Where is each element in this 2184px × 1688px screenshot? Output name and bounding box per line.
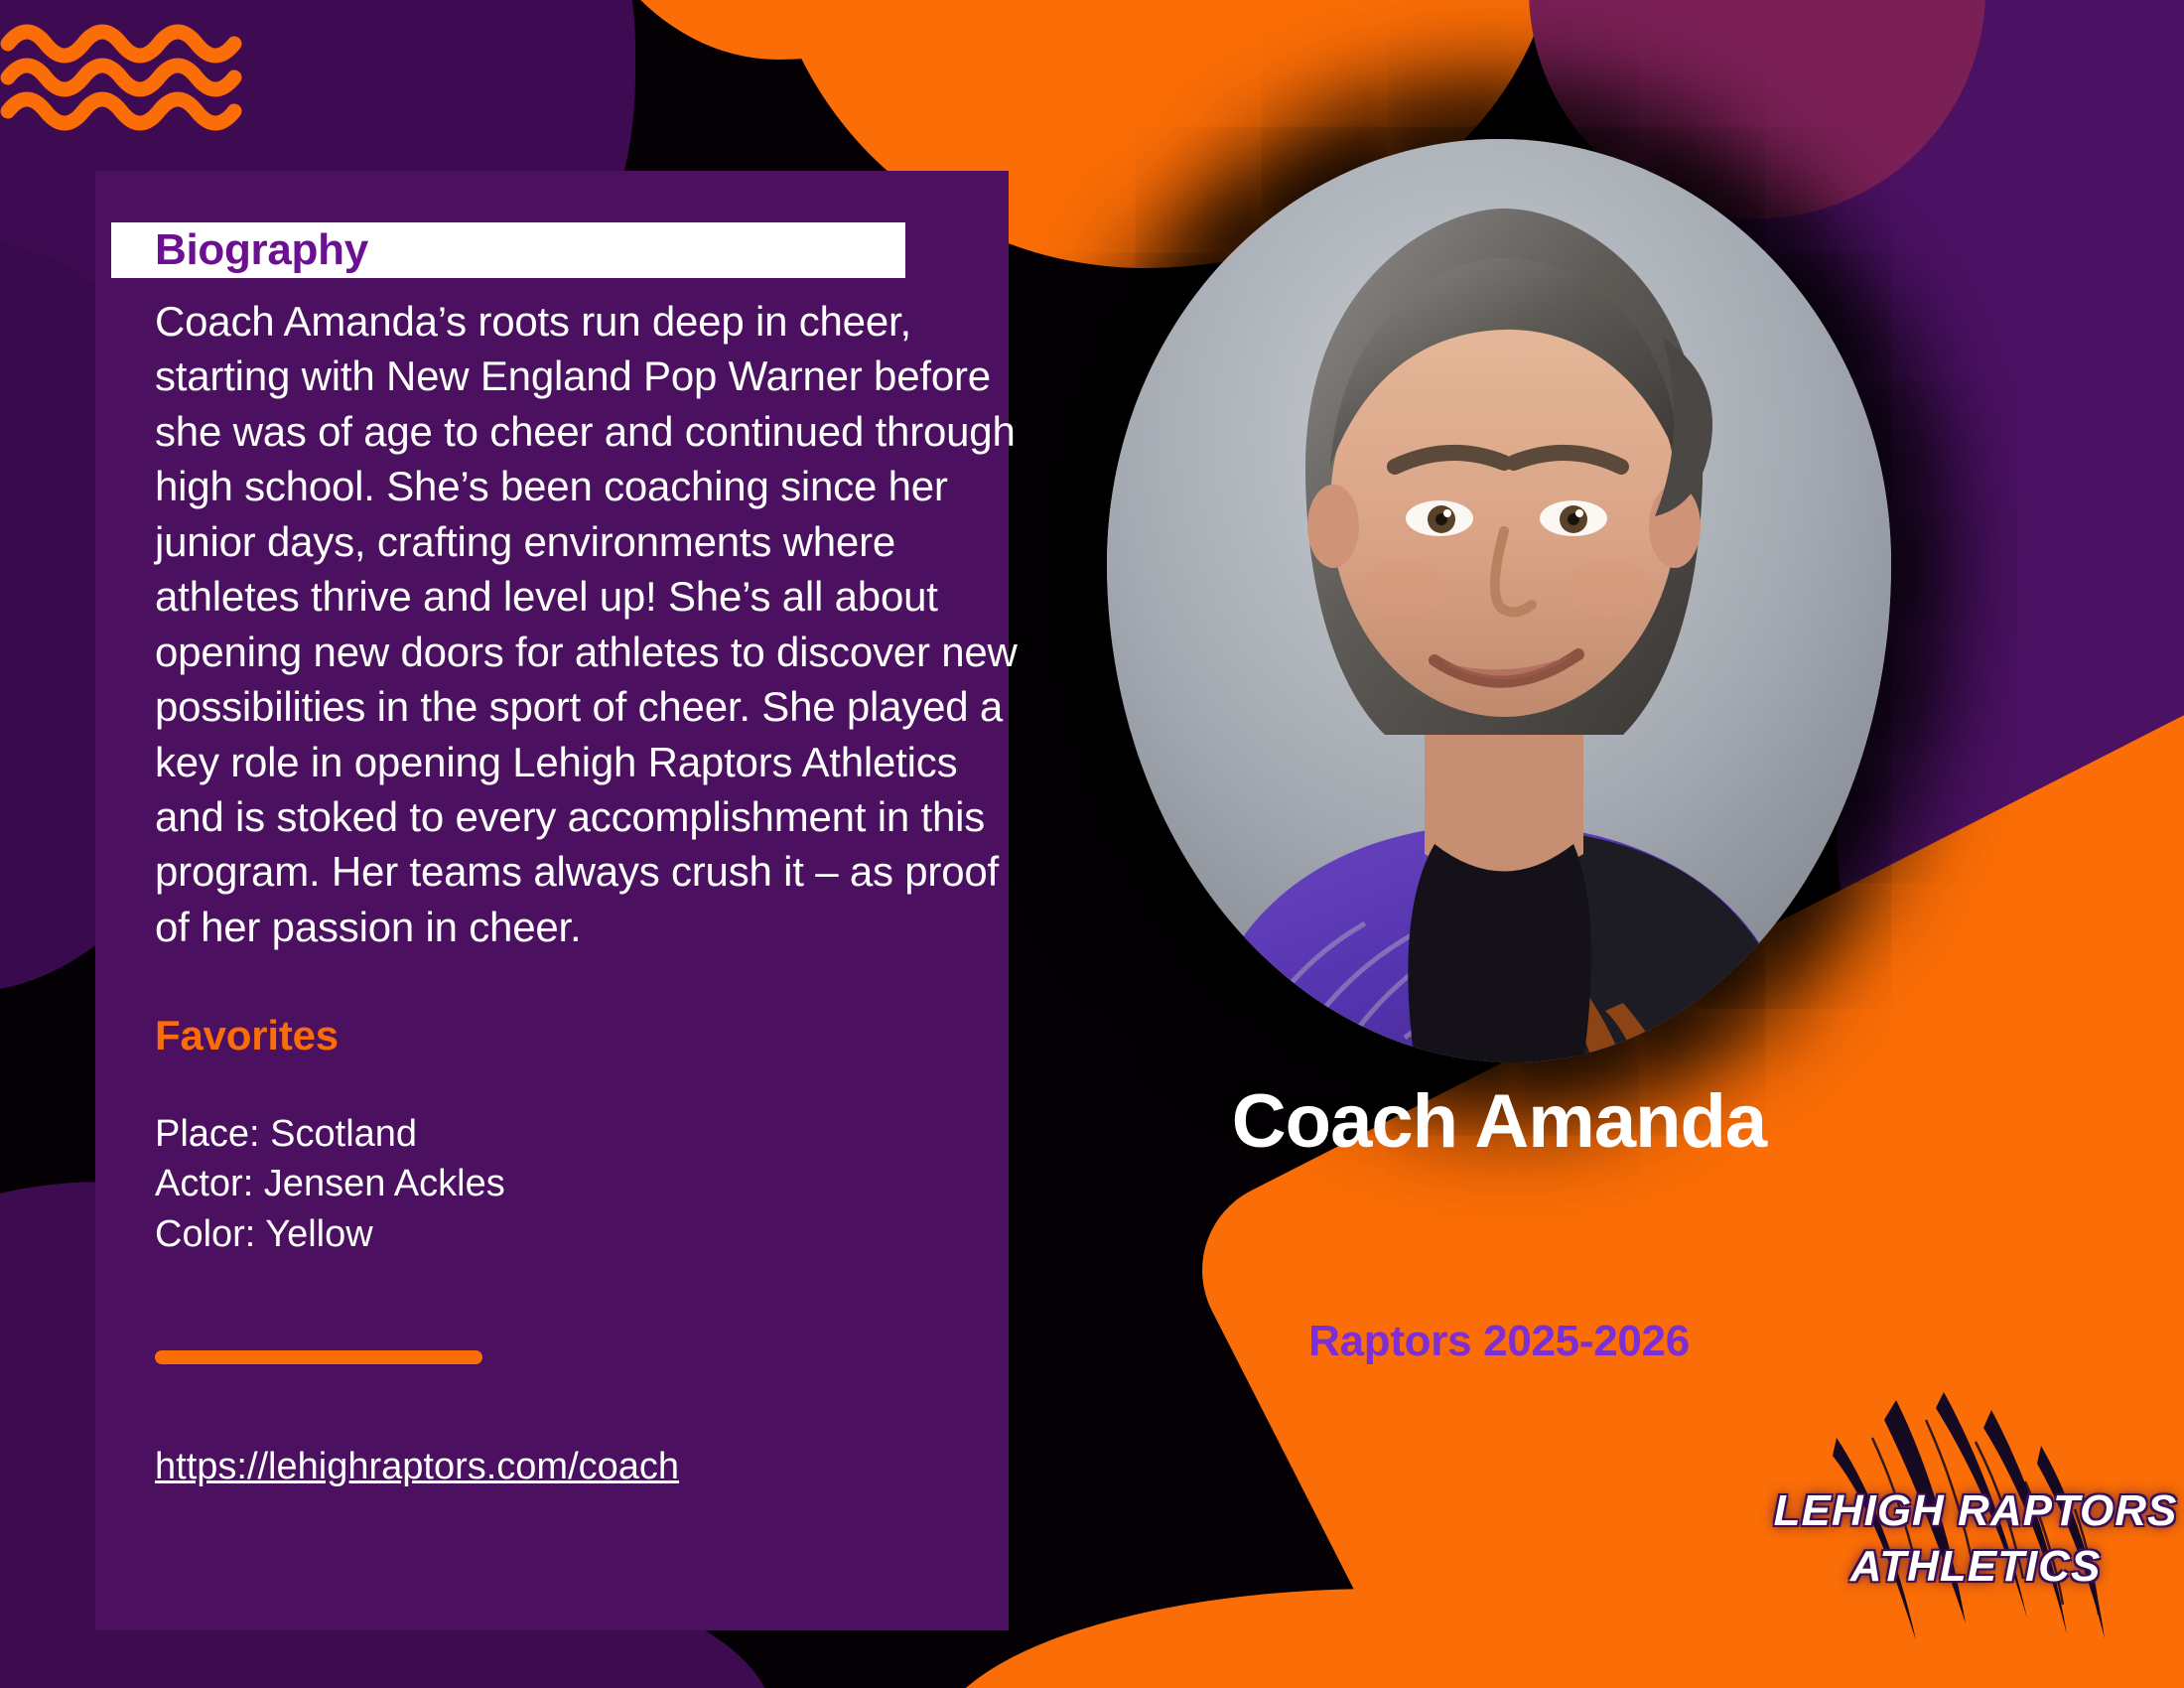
team-name: Alpha Team — [1092, 1205, 1906, 1263]
favorite-item-actor: Actor: Jensen Ackles — [155, 1159, 949, 1208]
favorites-heading: Favorites — [155, 1012, 949, 1059]
portrait-image — [1107, 139, 1891, 1062]
favorites-list: Place: Scotland Actor: Jensen Ackles Col… — [155, 1109, 949, 1258]
orange-divider-bar — [155, 1350, 482, 1364]
profile-name-block: Coach Amanda Alpha Team Raptors 2025-202… — [1092, 1082, 1906, 1366]
portrait-oval-frame — [1107, 139, 1891, 1062]
favorite-item-color: Color: Yellow — [155, 1209, 949, 1259]
season-label: Raptors 2025-2026 — [1092, 1317, 1906, 1366]
coach-portrait — [1107, 139, 1891, 1062]
biography-heading-band: Biography — [111, 222, 905, 278]
lehigh-raptors-logo: LEHIGH RAPTORS ATHLETICS — [1777, 1390, 2174, 1688]
decorative-blob-orange-top-left — [556, 0, 1112, 60]
claw-marks-icon — [1777, 1390, 2174, 1688]
coach-profile-poster: Biography Coach Amanda’s roots run deep … — [0, 0, 2184, 1688]
biography-card: Biography Coach Amanda’s roots run deep … — [95, 171, 1009, 1630]
coach-profile-link[interactable]: https://lehighraptors.com/coach — [155, 1446, 679, 1488]
coach-name: Coach Amanda — [1092, 1082, 1906, 1162]
decorative-blob-orange-bottom — [933, 1589, 1827, 1688]
biography-heading: Biography — [155, 228, 368, 272]
wavy-lines-icon — [0, 12, 278, 141]
favorite-item-place: Place: Scotland — [155, 1109, 949, 1159]
biography-text: Coach Amanda’s roots run deep in cheer, … — [155, 294, 1019, 954]
